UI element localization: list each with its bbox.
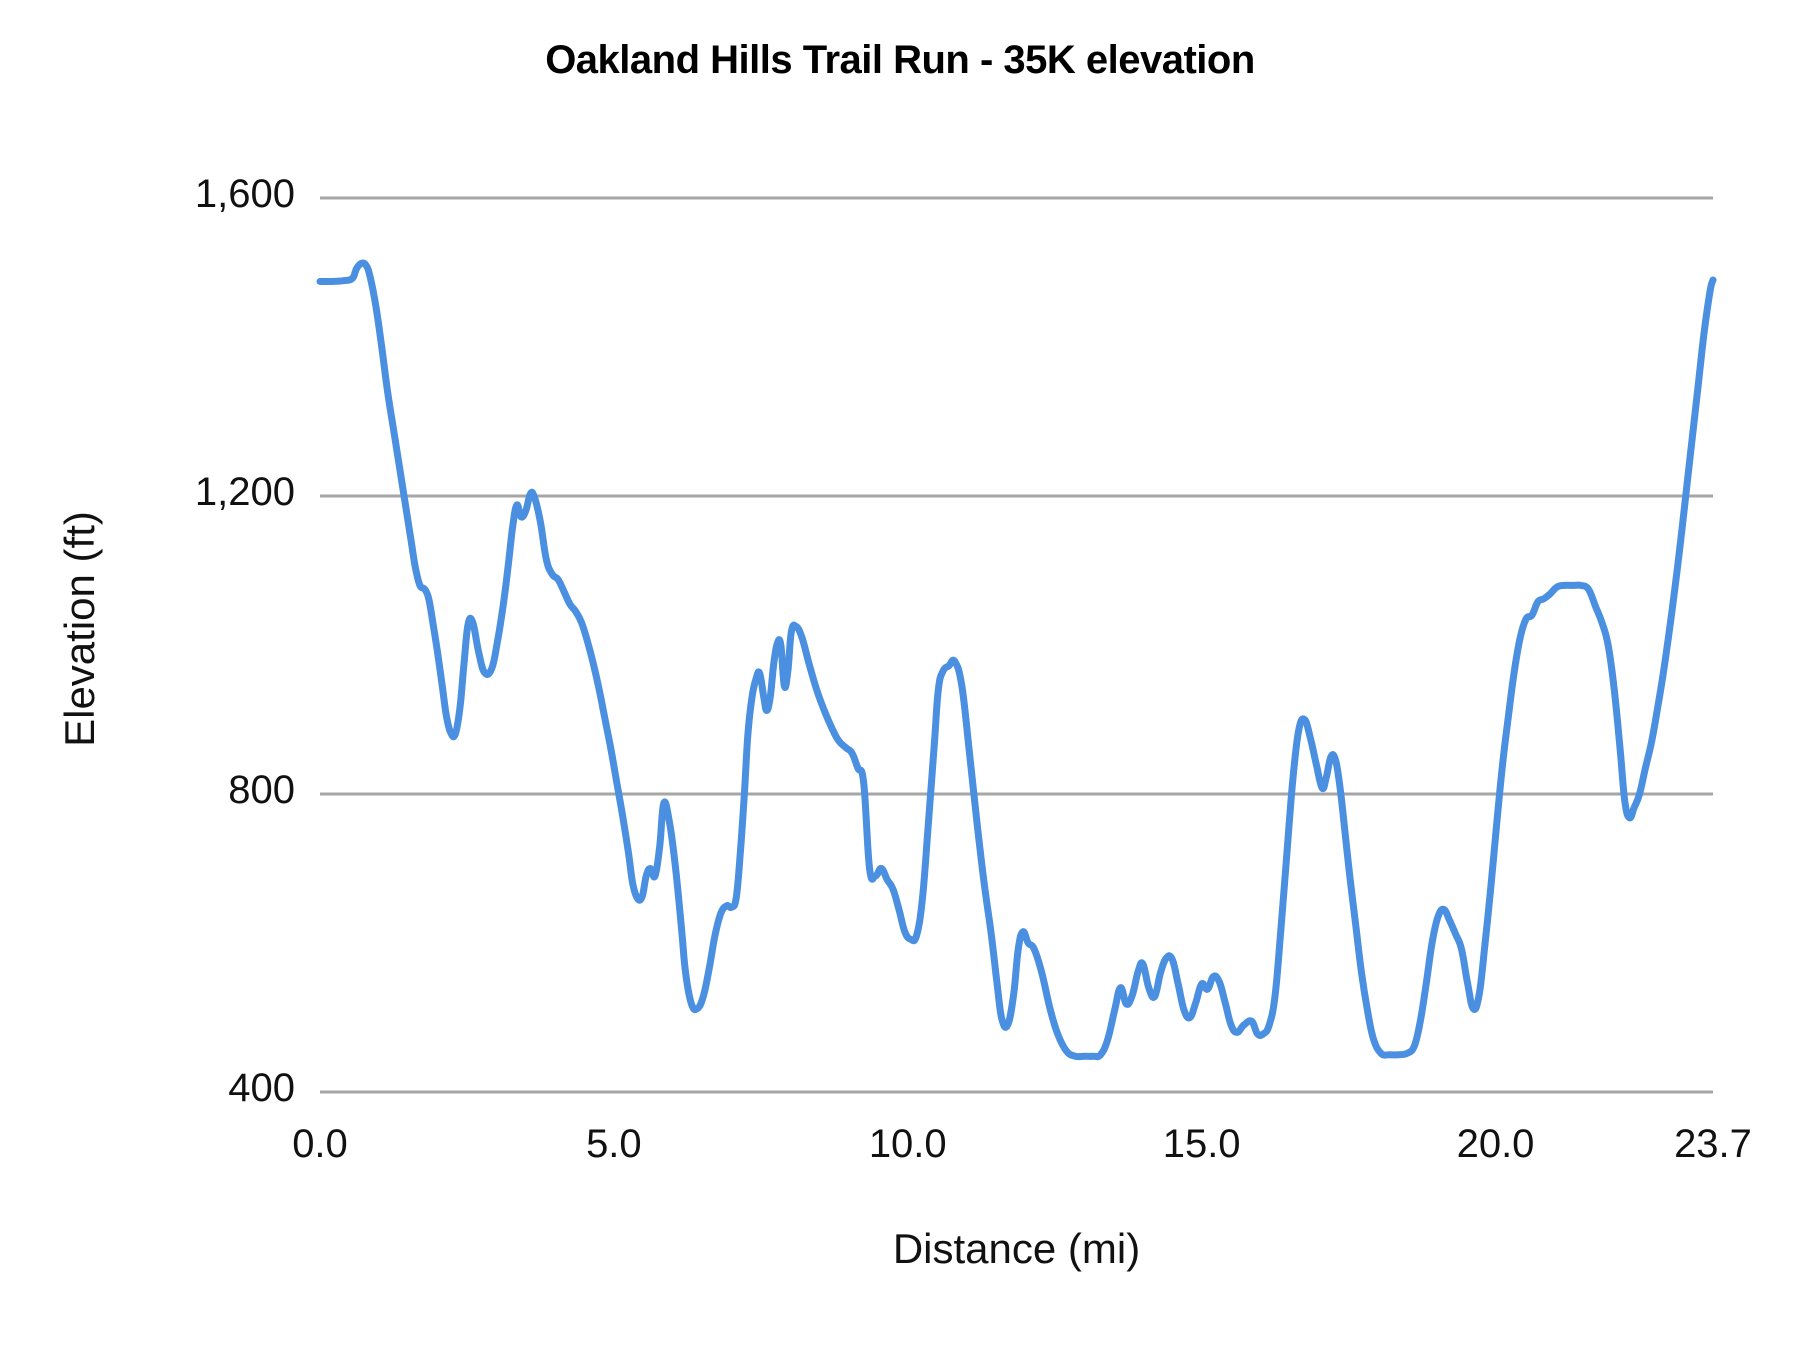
x-tick-label: 0.0 (230, 1122, 410, 1167)
elevation-series-line (320, 263, 1713, 1057)
chart-page: Oakland Hills Trail Run - 35K elevation … (0, 0, 1800, 1350)
plot-area: 1,600 1,200 800 400 0.0 5.0 10.0 15.0 20… (0, 0, 1800, 1350)
x-tick-label: 15.0 (1112, 1122, 1292, 1167)
y-tick-label: 400 (60, 1066, 295, 1111)
x-axis-title: Distance (mi) (320, 1225, 1713, 1273)
x-tick-label: 20.0 (1406, 1122, 1586, 1167)
x-tick-label: 5.0 (524, 1122, 704, 1167)
y-axis-title: Elevation (ft) (56, 429, 104, 829)
x-tick-label: 10.0 (818, 1122, 998, 1167)
y-tick-label: 1,600 (60, 172, 295, 217)
x-tick-label: 23.7 (1623, 1122, 1800, 1167)
